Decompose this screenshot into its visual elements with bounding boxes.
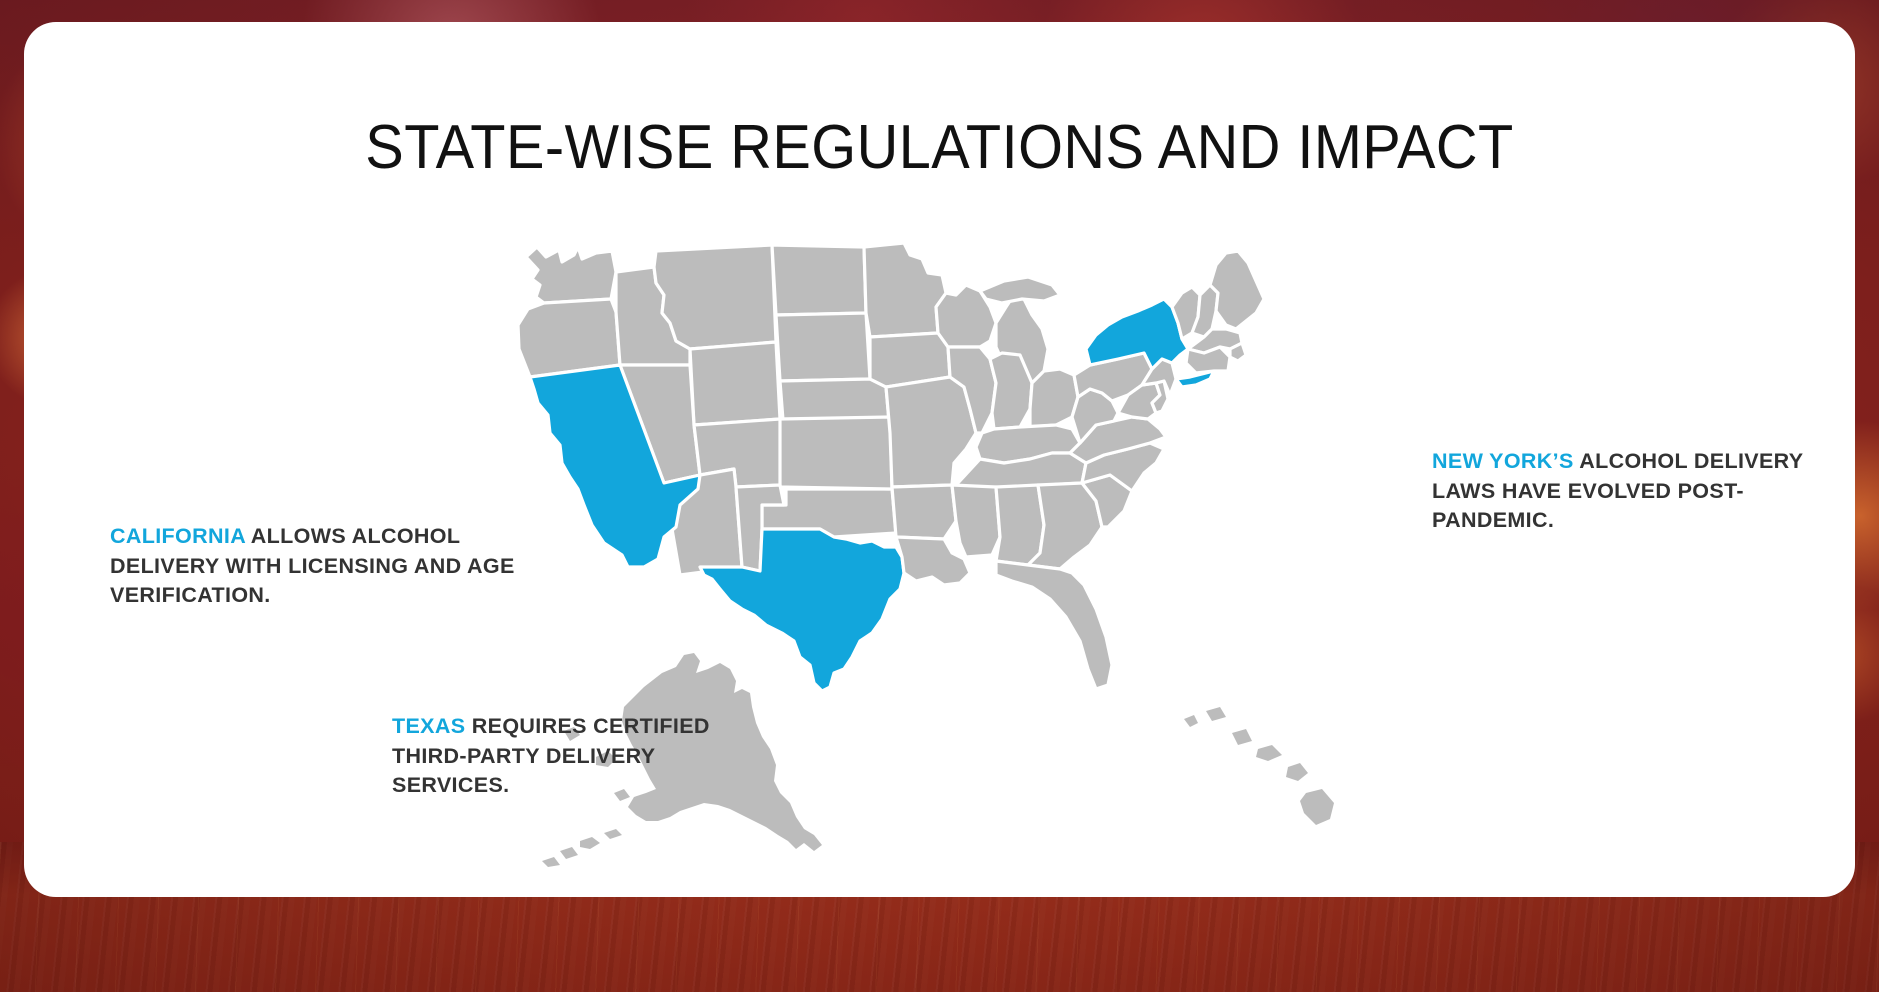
state-south-dakota	[776, 313, 870, 381]
state-maine	[1210, 251, 1264, 329]
state-wyoming	[690, 342, 780, 425]
state-indiana	[990, 353, 1032, 429]
state-hawaii-inset	[1184, 707, 1334, 825]
state-washington	[526, 247, 616, 303]
state-north-dakota	[772, 245, 866, 315]
state-colorado	[780, 417, 892, 489]
state-alaska-aleutian-islands	[542, 829, 622, 867]
callout-california-state: CALIFORNIA	[110, 524, 245, 548]
state-michigan-upper-peninsula	[980, 277, 1060, 303]
state-missouri	[886, 377, 976, 487]
state-alabama	[996, 485, 1044, 565]
state-arkansas	[892, 485, 956, 539]
state-florida	[996, 561, 1112, 689]
state-montana	[654, 245, 776, 349]
callout-new-york-state: NEW YORK’S	[1432, 449, 1574, 473]
callout-new-york: NEW YORK’S ALCOHOL DELIVERY LAWS HAVE EV…	[1432, 447, 1812, 536]
callout-california: CALIFORNIA ALLOWS ALCOHOL DELIVERY WITH …	[110, 522, 530, 611]
page-title: STATE-WISE REGULATIONS AND IMPACT	[88, 112, 1791, 183]
content-card: STATE-WISE REGULATIONS AND IMPACT	[24, 22, 1855, 897]
state-minnesota	[864, 243, 946, 337]
state-oregon	[518, 299, 620, 377]
state-mississippi	[952, 485, 1000, 557]
callout-texas-state: TEXAS	[392, 714, 465, 738]
callout-texas: TEXAS REQUIRES CERTIFIED THIRD-PARTY DEL…	[392, 712, 772, 801]
state-connecticut	[1186, 347, 1230, 373]
